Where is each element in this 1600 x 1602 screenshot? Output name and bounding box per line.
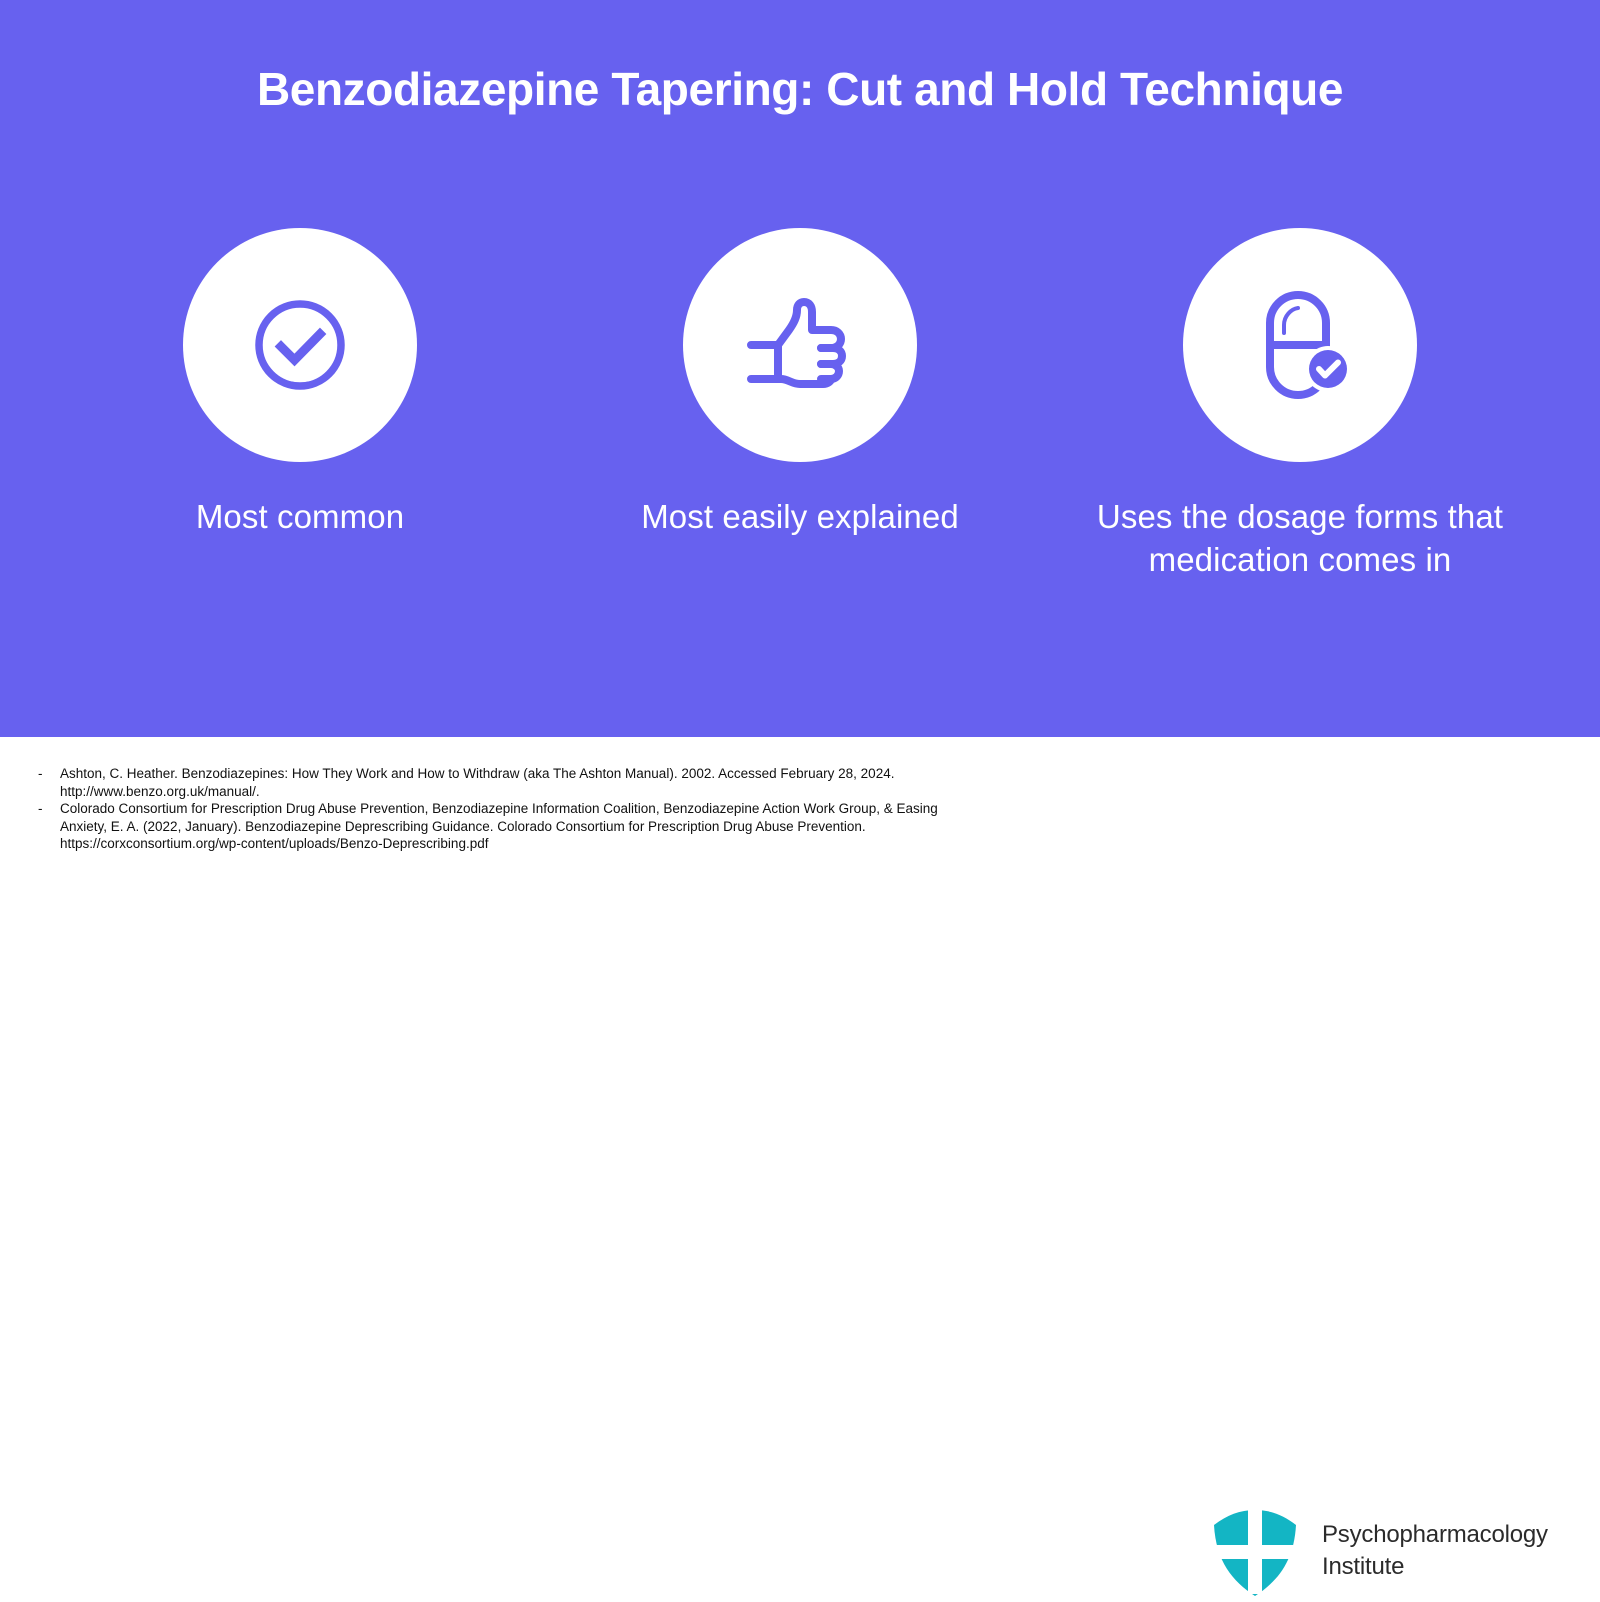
check-circle-icon xyxy=(248,293,352,397)
feature-item-dosage-forms: Uses the dosage forms that medication co… xyxy=(1080,228,1520,582)
reference-item: - Ashton, C. Heather. Benzodiazepines: H… xyxy=(38,765,958,800)
icon-badge xyxy=(683,228,917,462)
shield-cross-logo-icon xyxy=(1212,1505,1298,1597)
icon-badge xyxy=(1183,228,1417,462)
references-list: - Ashton, C. Heather. Benzodiazepines: H… xyxy=(38,765,958,853)
reference-item: - Colorado Consortium for Prescription D… xyxy=(38,800,958,853)
feature-item-most-common: Most common xyxy=(80,228,520,539)
hero-panel: Benzodiazepine Tapering: Cut and Hold Te… xyxy=(0,0,1600,737)
pill-check-icon xyxy=(1248,289,1352,401)
feature-caption: Most common xyxy=(196,496,404,539)
page-title: Benzodiazepine Tapering: Cut and Hold Te… xyxy=(0,62,1600,117)
brand-name: Psychopharmacology Institute xyxy=(1322,1519,1548,1583)
feature-item-most-easily-explained: Most easily explained xyxy=(580,228,1020,539)
feature-caption: Most easily explained xyxy=(641,496,959,539)
footer: - Ashton, C. Heather. Benzodiazepines: H… xyxy=(0,737,1600,899)
list-bullet: - xyxy=(38,800,60,818)
feature-caption: Uses the dosage forms that medication co… xyxy=(1080,496,1520,582)
feature-columns: Most common xyxy=(80,228,1520,582)
thumbs-up-icon xyxy=(745,293,855,397)
reference-text: Ashton, C. Heather. Benzodiazepines: How… xyxy=(60,765,958,800)
reference-text: Colorado Consortium for Prescription Dru… xyxy=(60,800,958,853)
list-bullet: - xyxy=(38,765,60,783)
brand-logo: Psychopharmacology Institute xyxy=(1212,1505,1548,1597)
icon-badge xyxy=(183,228,417,462)
slide: Benzodiazepine Tapering: Cut and Hold Te… xyxy=(0,0,1600,899)
